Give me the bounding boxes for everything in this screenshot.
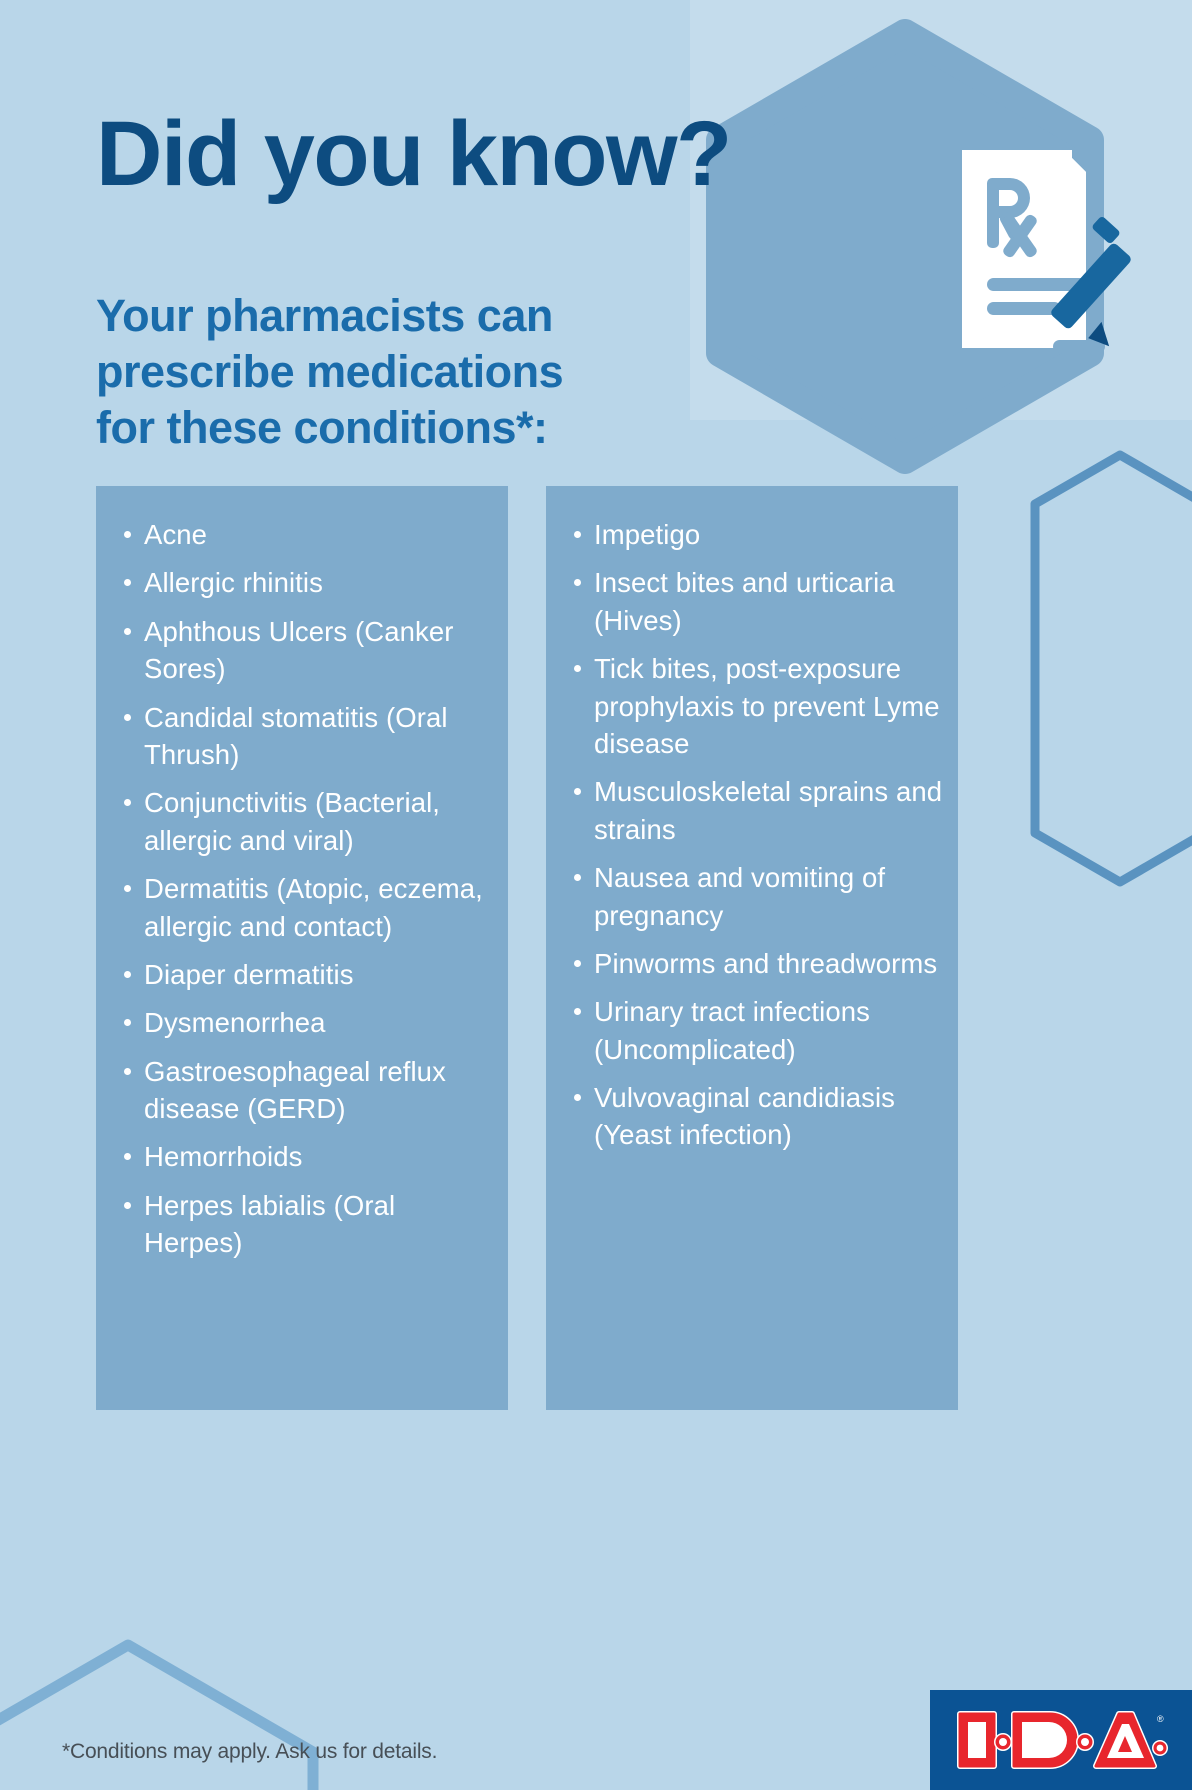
condition-list-item: Urinary tract infections (Uncomplicated) bbox=[566, 993, 948, 1068]
condition-list-item: Candidal stomatitis (Oral Thrush) bbox=[116, 699, 498, 774]
condition-list-item: Impetigo bbox=[566, 516, 948, 553]
subtitle-line-1: Your pharmacists can bbox=[96, 288, 636, 344]
condition-list-item: Tick bites, post-exposure prophylaxis to… bbox=[566, 650, 948, 762]
condition-list-item: Dysmenorrhea bbox=[116, 1004, 498, 1041]
condition-list-item: Pinworms and threadworms bbox=[566, 945, 948, 982]
condition-list-item: Musculoskeletal sprains and strains bbox=[566, 773, 948, 848]
conditions-panel-left: AcneAllergic rhinitisAphthous Ulcers (Ca… bbox=[96, 486, 508, 1410]
condition-list-item: Acne bbox=[116, 516, 498, 553]
condition-list-item: Dermatitis (Atopic, eczema, allergic and… bbox=[116, 870, 498, 945]
condition-list-item: Gastroesophageal reflux disease (GERD) bbox=[116, 1053, 498, 1128]
condition-list-item: Conjunctivitis (Bacterial, allergic and … bbox=[116, 784, 498, 859]
subtitle-line-2: prescribe medications bbox=[96, 344, 636, 400]
conditions-list-left: AcneAllergic rhinitisAphthous Ulcers (Ca… bbox=[116, 516, 498, 1273]
condition-list-item: Aphthous Ulcers (Canker Sores) bbox=[116, 613, 498, 688]
page-title: Did you know? bbox=[96, 108, 731, 200]
condition-list-item: Insect bites and urticaria (Hives) bbox=[566, 564, 948, 639]
conditions-list-right: ImpetigoInsect bites and urticaria (Hive… bbox=[566, 516, 948, 1165]
condition-list-item: Vulvovaginal candidiasis (Yeast infectio… bbox=[566, 1079, 948, 1154]
poster-canvas: Did you know? Your pharmacists can presc… bbox=[0, 0, 1192, 1790]
condition-list-item: Herpes labialis (Oral Herpes) bbox=[116, 1187, 498, 1262]
condition-list-item: Nausea and vomiting of pregnancy bbox=[566, 859, 948, 934]
registered-mark: ® bbox=[1157, 1714, 1164, 1724]
condition-list-item: Hemorrhoids bbox=[116, 1138, 498, 1175]
condition-list-item: Allergic rhinitis bbox=[116, 564, 498, 601]
subtitle-line-3: for these conditions*: bbox=[96, 400, 636, 456]
page-subtitle: Your pharmacists can prescribe medicatio… bbox=[96, 288, 636, 455]
hexagon-outline-icon-bottom bbox=[0, 1645, 313, 1790]
footnote: *Conditions may apply. Ask us for detail… bbox=[62, 1740, 437, 1764]
ida-logo: ® bbox=[930, 1690, 1192, 1790]
conditions-panel-right: ImpetigoInsect bites and urticaria (Hive… bbox=[546, 486, 958, 1410]
background-band bbox=[690, 0, 1192, 420]
ida-logo-mark: ® bbox=[954, 1708, 1168, 1772]
condition-list-item: Diaper dermatitis bbox=[116, 956, 498, 993]
hexagon-outline-icon-right bbox=[1035, 455, 1192, 882]
